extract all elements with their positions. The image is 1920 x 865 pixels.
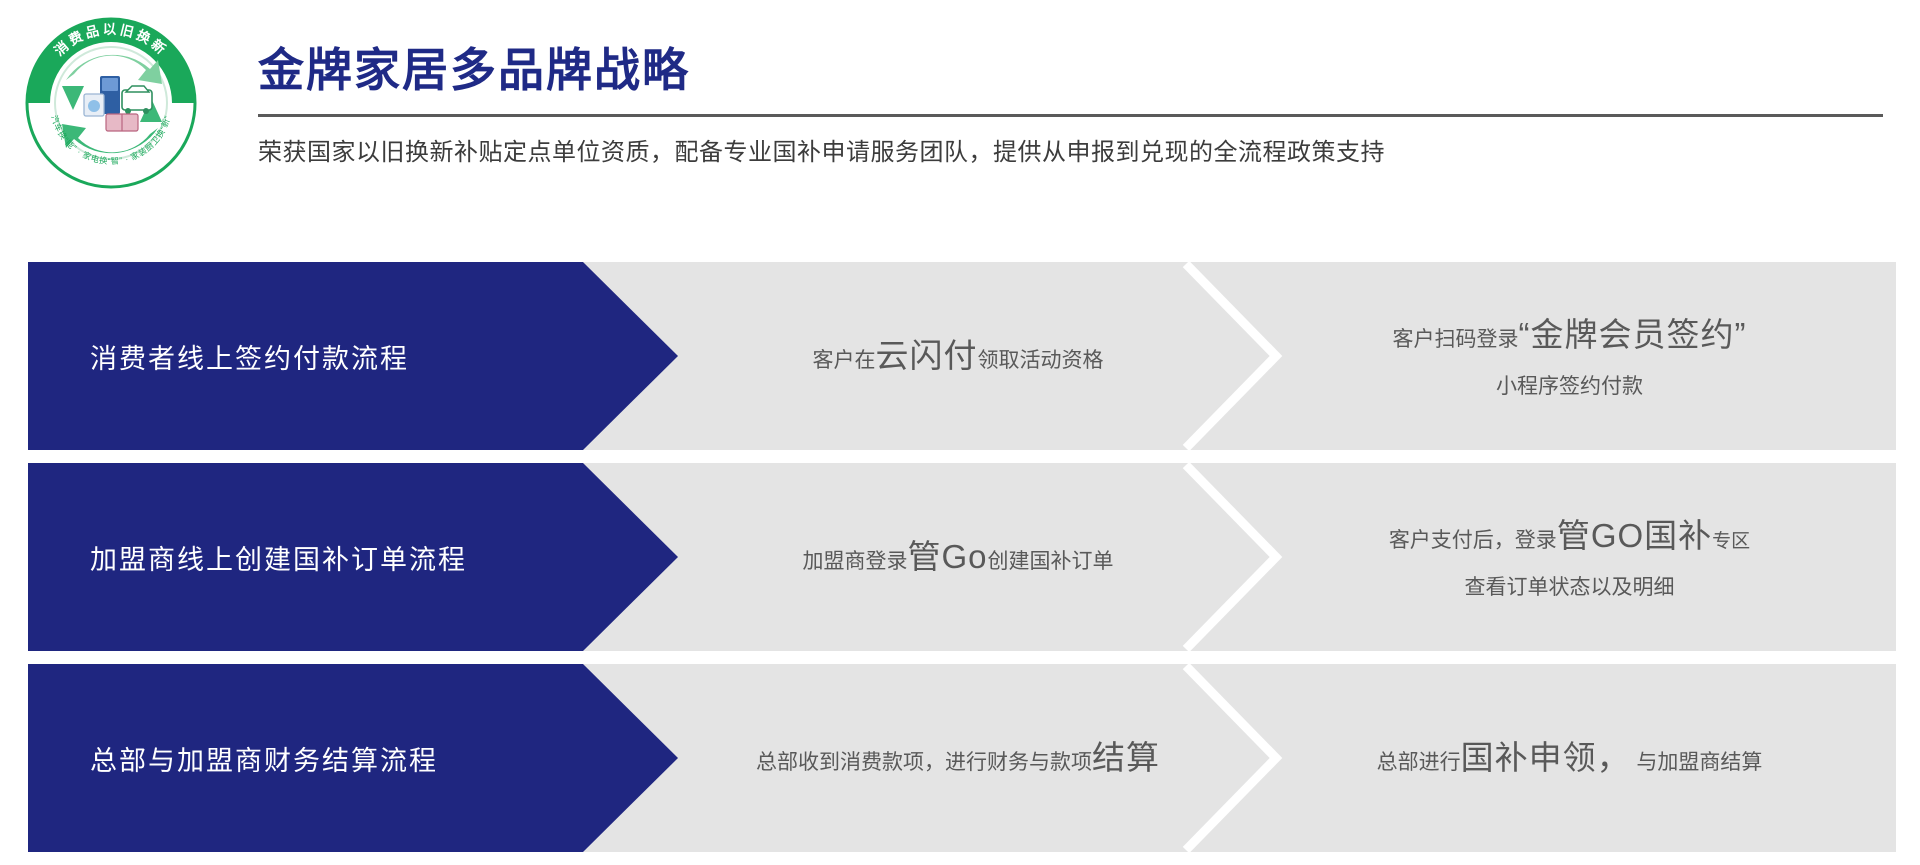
flow-stage-label: 总部与加盟商财务结算流程 (28, 739, 438, 778)
flow-step-right: 客户扫码登录“金牌会员签约” 小程序签约付款 (1243, 262, 1896, 450)
step-text-pre: 客户在 (813, 349, 876, 372)
step-text-pre: 客户扫码登录 (1393, 328, 1519, 351)
title-divider (258, 114, 1883, 117)
step-text-pre: 客户支付后，登录 (1389, 529, 1557, 552)
step-text-emphasis: 云闪付 (876, 337, 978, 374)
step-text-emphasis: 结算 (1092, 739, 1160, 776)
step-text-post: 创建国补订单 (988, 550, 1114, 573)
flow-stage-label: 加盟商线上创建国补订单流程 (28, 538, 467, 577)
flow-step-middle: 客户在云闪付领取活动资格 (688, 262, 1228, 450)
step-text-pre: 总部收到消费款项，进行财务与款项 (756, 751, 1092, 774)
step-text-line2: 查看订单状态以及明细 (1465, 572, 1675, 604)
step-text-emphasis: 管Go (907, 538, 987, 575)
process-flow: 消费者线上签约付款流程 客户在云闪付领取活动资格 客户扫码登录“金牌会员签约” … (28, 262, 1896, 852)
step-text-post: 专区 (1712, 531, 1750, 552)
trade-in-badge-icon: 消费品以旧换新 汽车换“能” · 家电换“智” · 家装厨卫换“新” (22, 14, 200, 192)
flow-stage-label-chevron[interactable]: 总部与加盟商财务结算流程 (28, 664, 678, 852)
slide-canvas: 消费品以旧换新 汽车换“能” · 家电换“智” · 家装厨卫换“新” 金牌家居多… (0, 0, 1920, 865)
step-text-emphasis: 国补申领， (1461, 739, 1631, 776)
step-text-emphasis: “金牌会员签约” (1519, 316, 1747, 353)
flow-step-middle: 加盟商登录管Go创建国补订单 (688, 463, 1228, 651)
step-text-emphasis: 管GO国补 (1557, 517, 1712, 554)
page-header: 消费品以旧换新 汽车换“能” · 家电换“智” · 家装厨卫换“新” 金牌家居多… (0, 0, 1920, 212)
page-title: 金牌家居多品牌战略 (258, 42, 1898, 100)
title-block: 金牌家居多品牌战略 荣获国家以旧换新补贴定点单位资质，配备专业国补申请服务团队，… (258, 42, 1898, 168)
flow-step-right: 总部进行国补申领， 与加盟商结算 (1243, 664, 1896, 852)
page-subtitle: 荣获国家以旧换新补贴定点单位资质，配备专业国补申请服务团队，提供从申报到兑现的全… (258, 137, 1898, 168)
step-text-post: 领取活动资格 (978, 349, 1104, 372)
flow-stage-label-chevron[interactable]: 加盟商线上创建国补订单流程 (28, 463, 678, 651)
flow-stage-label-chevron[interactable]: 消费者线上签约付款流程 (28, 262, 678, 450)
flow-row: 消费者线上签约付款流程 客户在云闪付领取活动资格 客户扫码登录“金牌会员签约” … (28, 262, 1896, 450)
step-text-pre: 总部进行 (1377, 751, 1461, 774)
flow-step-right: 客户支付后，登录管GO国补专区 查看订单状态以及明细 (1243, 463, 1896, 651)
step-text-pre: 加盟商登录 (802, 550, 907, 573)
step-text-line2: 小程序签约付款 (1496, 371, 1643, 403)
flow-step-middle: 总部收到消费款项，进行财务与款项结算 (688, 664, 1228, 852)
flow-row: 总部与加盟商财务结算流程 总部收到消费款项，进行财务与款项结算 总部进行国补申领… (28, 664, 1896, 852)
flow-stage-label: 消费者线上签约付款流程 (28, 337, 409, 376)
step-text-post: 与加盟商结算 (1631, 751, 1763, 774)
flow-row: 加盟商线上创建国补订单流程 加盟商登录管Go创建国补订单 客户支付后，登录管GO… (28, 463, 1896, 651)
